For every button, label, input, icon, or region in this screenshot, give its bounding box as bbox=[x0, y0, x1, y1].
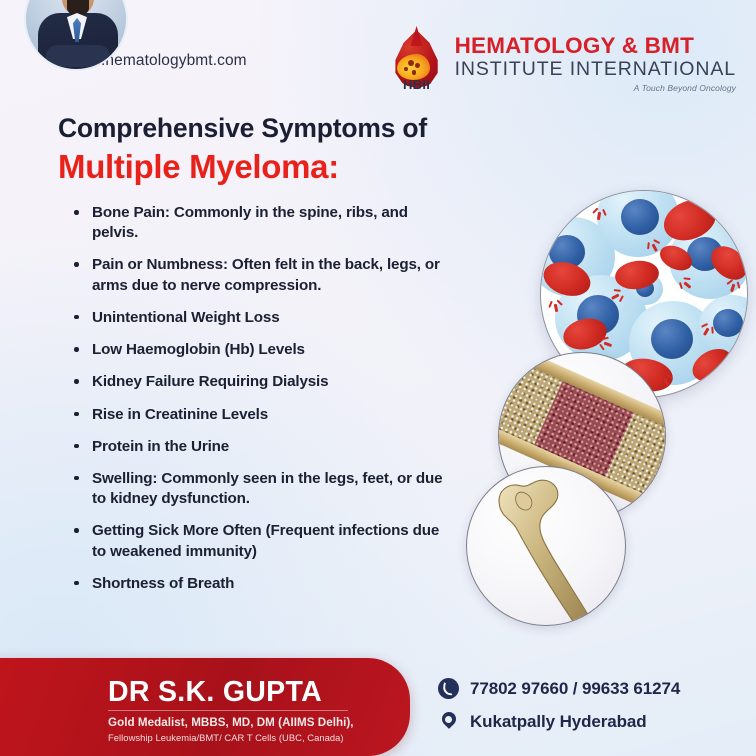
blood-drop-icon: HBII bbox=[390, 30, 446, 96]
symptom-item: Rise in Creatinine Levels bbox=[72, 405, 452, 425]
location-row[interactable]: Kukatpally Hyderabad bbox=[438, 711, 680, 732]
contact-block: 77802 97660 / 99633 61274 Kukatpally Hyd… bbox=[438, 678, 680, 744]
logo-line-1: HEMATOLOGY & BMT bbox=[455, 33, 736, 58]
doctor-credentials-line-2: Fellowship Leukemia/BMT/ CAR T Cells (UB… bbox=[108, 732, 344, 743]
symptom-item: Kidney Failure Requiring Dialysis bbox=[72, 372, 452, 392]
symptom-text: Protein in the Urine bbox=[92, 438, 229, 455]
bullet-dot-icon bbox=[74, 528, 79, 533]
bullet-dot-icon bbox=[74, 262, 79, 267]
symptom-text: Getting Sick More Often (Frequent infect… bbox=[92, 522, 439, 559]
doctor-name: DR S.K. GUPTA bbox=[108, 676, 322, 709]
bullet-dot-icon bbox=[74, 476, 79, 481]
symptom-item: Low Haemoglobin (Hb) Levels bbox=[72, 340, 452, 360]
symptom-text: Rise in Creatinine Levels bbox=[92, 406, 268, 423]
bullet-dot-icon bbox=[74, 412, 79, 417]
symptom-text: Shortness of Breath bbox=[92, 575, 234, 592]
symptom-text: Swelling: Commonly seen in the legs, fee… bbox=[92, 470, 442, 507]
symptom-text: Bone Pain: Commonly in the spine, ribs, … bbox=[92, 204, 408, 241]
logo-line-2: INSTITUTE INTERNATIONAL bbox=[455, 58, 736, 80]
symptom-item: Pain or Numbness: Often felt in the back… bbox=[72, 255, 452, 295]
doctor-portrait-avatar bbox=[24, 0, 128, 71]
bullet-dot-icon bbox=[74, 315, 79, 320]
symptom-list: Bone Pain: Commonly in the spine, ribs, … bbox=[72, 203, 452, 606]
bullet-dot-icon bbox=[74, 210, 79, 215]
phone-icon bbox=[438, 678, 459, 699]
symptom-item: Getting Sick More Often (Frequent infect… bbox=[72, 521, 452, 561]
phone-number[interactable]: 77802 97660 / 99633 61274 bbox=[470, 679, 680, 699]
bullet-dot-icon bbox=[74, 347, 79, 352]
doctor-banner: DR S.K. GUPTA Gold Medalist, MBBS, MD, D… bbox=[0, 658, 410, 756]
poster-canvas: www.hematologybmt.com HBII HEMATOLOGY & … bbox=[0, 0, 756, 756]
doctor-credentials-line-1: Gold Medalist, MBBS, MD, DM (AIIMS Delhi… bbox=[108, 716, 354, 729]
symptom-text: Pain or Numbness: Often felt in the back… bbox=[92, 256, 440, 293]
map-pin-icon bbox=[438, 711, 459, 732]
page-title-line-1: Comprehensive Symptoms of bbox=[58, 113, 427, 144]
phone-row[interactable]: 77802 97660 / 99633 61274 bbox=[438, 678, 680, 699]
symptom-item: Protein in the Urine bbox=[72, 437, 452, 457]
symptom-text: Low Haemoglobin (Hb) Levels bbox=[92, 341, 305, 358]
location-text[interactable]: Kukatpally Hyderabad bbox=[470, 712, 647, 732]
symptom-item: Swelling: Commonly seen in the legs, fee… bbox=[72, 469, 452, 509]
symptom-text: Unintentional Weight Loss bbox=[92, 309, 280, 326]
logo-abbreviation: HBII bbox=[390, 77, 444, 92]
symptom-item: Shortness of Breath bbox=[72, 574, 452, 594]
bullet-dot-icon bbox=[74, 444, 79, 449]
page-title-line-2: Multiple Myeloma: bbox=[58, 148, 339, 186]
brand-logo[interactable]: HBII HEMATOLOGY & BMT INSTITUTE INTERNAT… bbox=[390, 30, 736, 96]
symptom-item: Bone Pain: Commonly in the spine, ribs, … bbox=[72, 203, 452, 243]
bullet-dot-icon bbox=[74, 581, 79, 586]
symptom-text: Kidney Failure Requiring Dialysis bbox=[92, 373, 328, 390]
bullet-dot-icon bbox=[74, 379, 79, 384]
symptom-item: Unintentional Weight Loss bbox=[72, 308, 452, 328]
femur-bone-illustration bbox=[466, 466, 626, 626]
logo-tagline: A Touch Beyond Oncology bbox=[455, 81, 736, 93]
name-divider bbox=[108, 710, 348, 711]
femur-svg bbox=[486, 473, 603, 626]
